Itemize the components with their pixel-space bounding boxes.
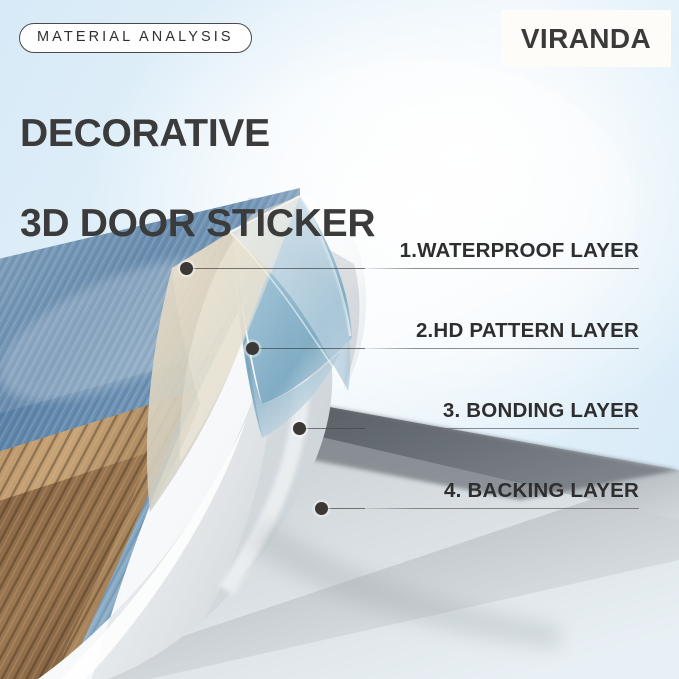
layer-callout-waterproof: 1.WATERPROOF LAYER	[365, 238, 639, 269]
page-title: DECORATIVE 3D DOOR STICKER	[20, 66, 375, 291]
layer-underline-backing	[365, 508, 639, 509]
brand-logo: VIRANDA	[501, 10, 671, 67]
layer-callout-pattern: 2.HD PATTERN LAYER	[365, 318, 639, 349]
brand-logo-text: VIRANDA	[521, 23, 651, 55]
layer-label-backing: 4. BACKING LAYER	[444, 479, 639, 503]
leader-line-bonding	[303, 428, 365, 429]
page-title-line-1: DECORATIVE	[20, 111, 375, 156]
poster-canvas: MATERIAL ANALYSIS DECORATIVE 3D DOOR STI…	[0, 0, 679, 679]
layer-callout-backing: 4. BACKING LAYER	[365, 478, 639, 509]
layer-callout-bonding: 3. BONDING LAYER	[365, 398, 639, 429]
layer-dot-backing	[315, 502, 328, 515]
layer-label-bonding: 3. BONDING LAYER	[443, 399, 639, 423]
layer-dot-pattern	[246, 342, 259, 355]
layer-underline-pattern	[365, 348, 639, 349]
material-analysis-badge: MATERIAL ANALYSIS	[19, 23, 252, 53]
layer-underline-bonding	[365, 428, 639, 429]
layer-underline-waterproof	[365, 268, 639, 269]
page-title-line-2: 3D DOOR STICKER	[20, 201, 375, 246]
leader-line-backing	[325, 508, 365, 509]
layer-dot-waterproof	[180, 262, 193, 275]
leader-line-waterproof	[190, 268, 365, 269]
layer-label-waterproof: 1.WATERPROOF LAYER	[400, 239, 639, 263]
leader-line-pattern	[256, 348, 365, 349]
layer-label-pattern: 2.HD PATTERN LAYER	[416, 319, 639, 343]
layer-dot-bonding	[293, 422, 306, 435]
